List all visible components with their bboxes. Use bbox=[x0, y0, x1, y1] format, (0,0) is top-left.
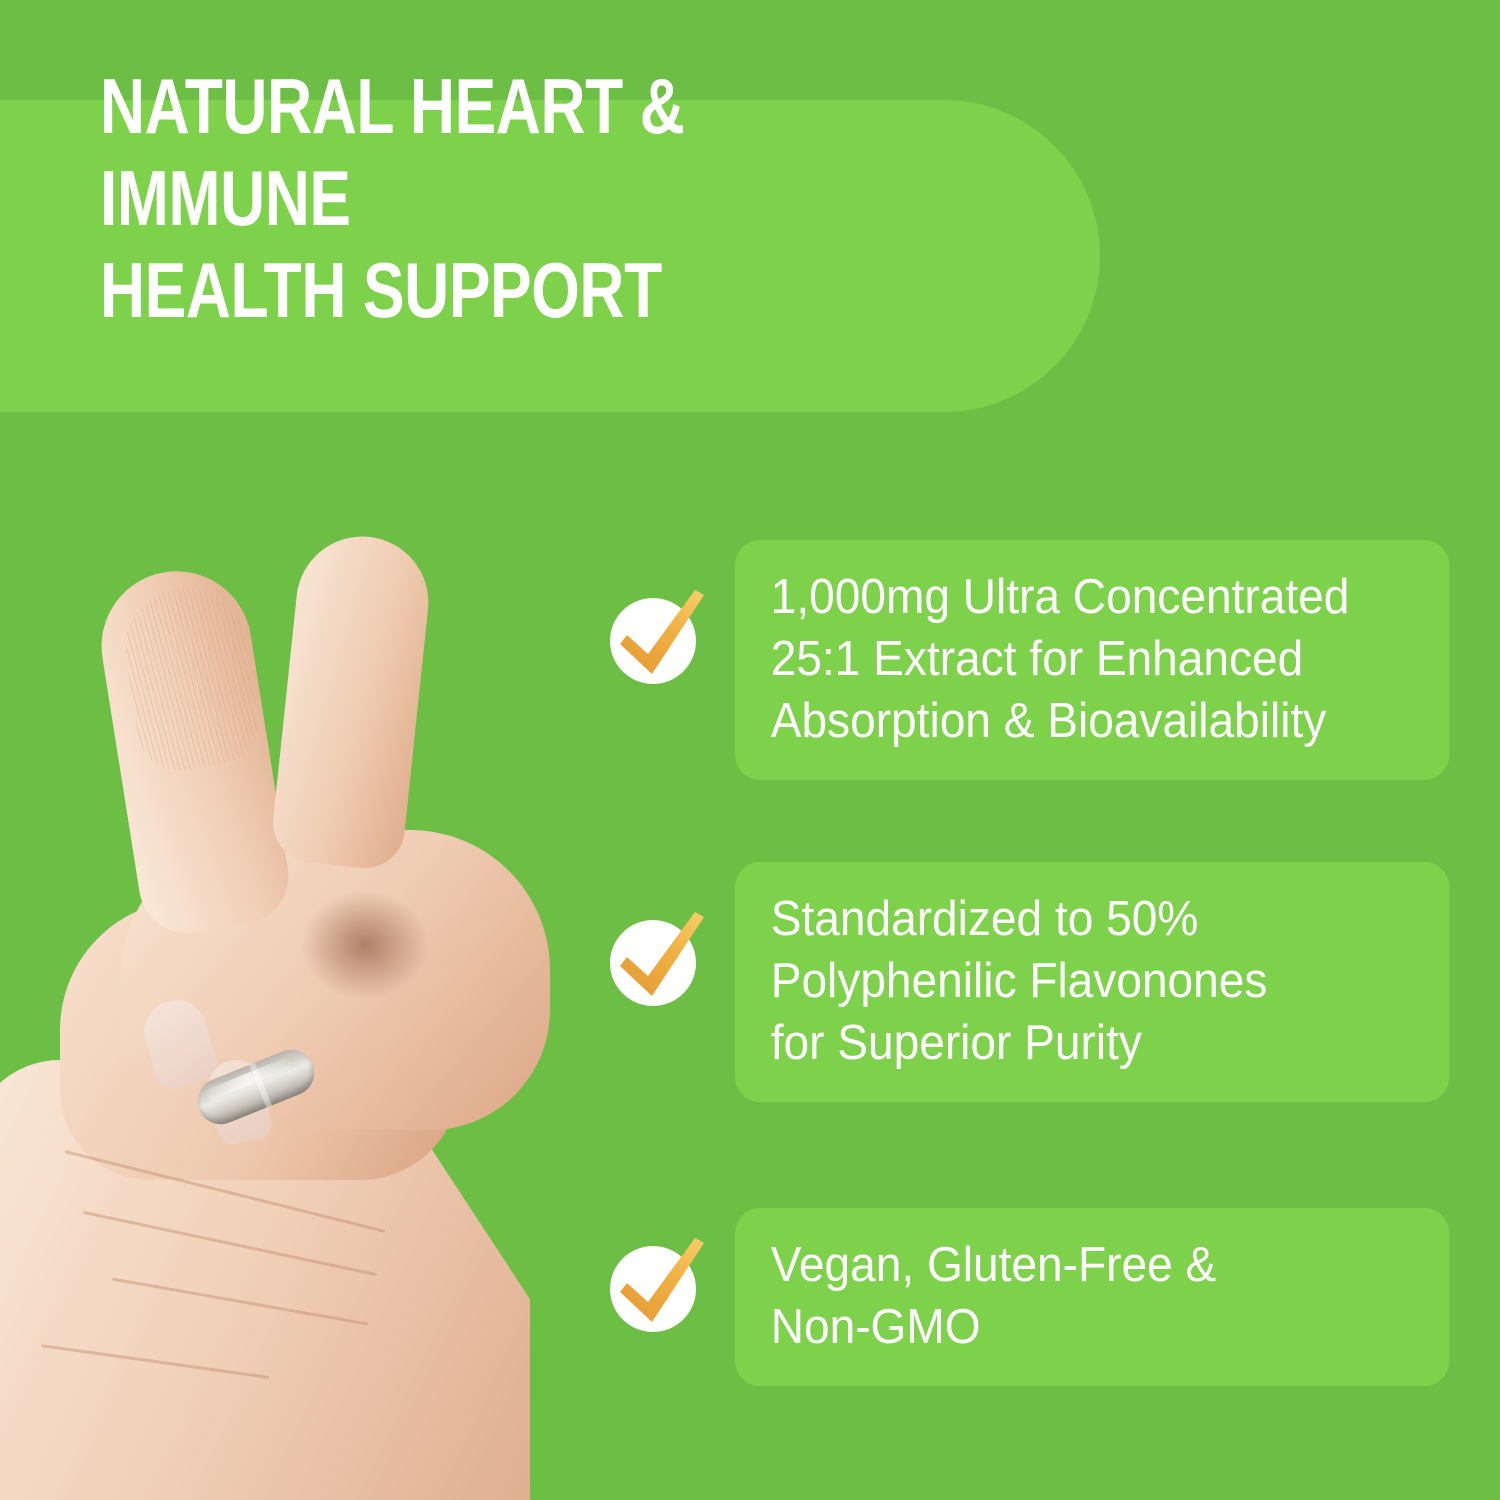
feature-text: 1,000mg Ultra Concentrated 25:1 Extract … bbox=[735, 540, 1449, 780]
knuckle-shadow bbox=[300, 890, 430, 1000]
index-finger bbox=[269, 530, 435, 872]
feature-text: Vegan, Gluten-Free & Non-GMO bbox=[735, 1208, 1449, 1386]
page-title: NATURAL HEART & IMMUNE HEALTH SUPPORT bbox=[100, 60, 900, 336]
check-circle-icon bbox=[600, 904, 712, 1016]
check-circle-icon bbox=[600, 1230, 712, 1342]
check-circle-icon bbox=[600, 582, 712, 694]
product-feature-graphic: NATURAL HEART & IMMUNE HEALTH SUPPORT bbox=[0, 0, 1500, 1500]
hand-holding-capsule-image bbox=[0, 500, 620, 1500]
feature-text: Standardized to 50% Polyphenilic Flavono… bbox=[735, 862, 1449, 1102]
